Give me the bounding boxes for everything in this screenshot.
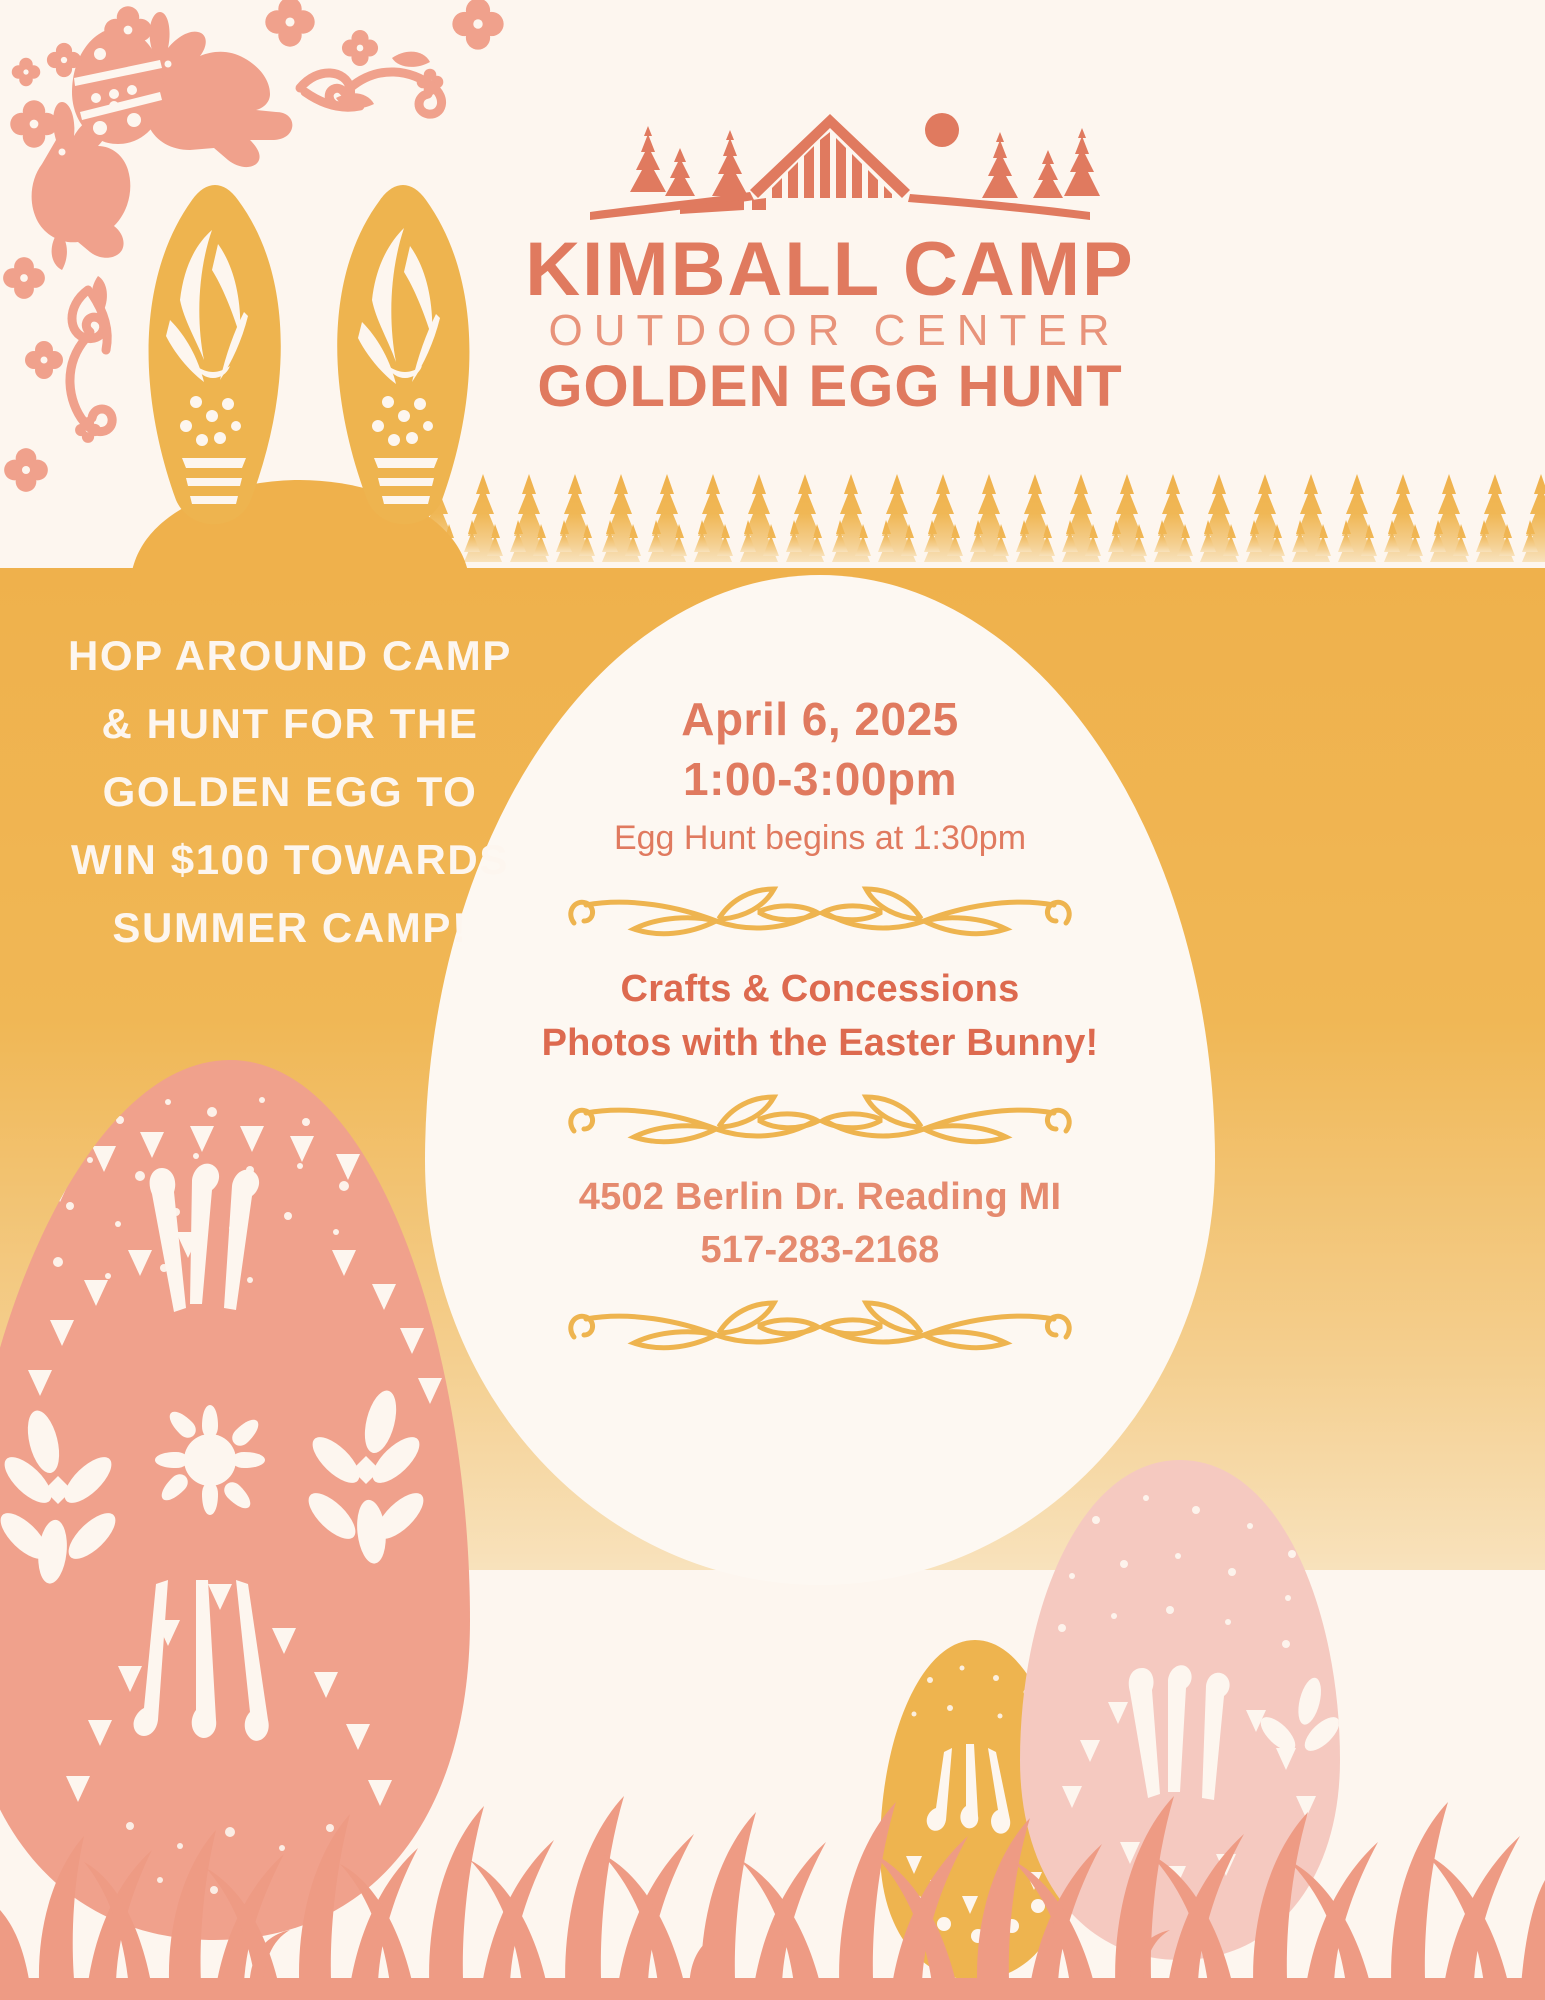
floral-leaf-flourish-divider-icon [560,883,1080,945]
logo-line-kimball-camp: KIMBALL CAMP [520,234,1140,306]
camp-lodge-pines-sun-icon [530,112,1130,232]
floral-leaf-flourish-divider-icon [560,1091,1080,1153]
activity-photos: Photos with the Easter Bunny! [425,1017,1215,1071]
easter-corner-ornament-bunnies-flowers-icon [0,0,520,520]
logo-line-golden-egg-hunt: GOLDEN EGG HUNT [520,357,1140,418]
event-start-note: Egg Hunt begins at 1:30pm [425,814,1215,863]
logo-line-outdoor-center: OUTDOOR CENTER [520,306,1140,357]
event-time: 1:00-3:00pm [425,750,1215,810]
kimball-camp-logo: KIMBALL CAMP OUTDOOR CENTER GOLDEN EGG H… [520,112,1140,418]
event-date: April 6, 2025 [425,690,1215,750]
grass-silhouette-icon [0,1740,1545,2000]
venue-phone: 517-283-2168 [425,1224,1215,1277]
activity-crafts: Crafts & Concessions [425,963,1215,1017]
venue-address: 4502 Berlin Dr. Reading MI [425,1171,1215,1224]
floral-leaf-flourish-divider-icon [560,1297,1080,1359]
flyer-page: KIMBALL CAMP OUTDOOR CENTER GOLDEN EGG H… [0,0,1545,2000]
egg-info-content: April 6, 2025 1:00-3:00pm Egg Hunt begin… [425,575,1215,1585]
